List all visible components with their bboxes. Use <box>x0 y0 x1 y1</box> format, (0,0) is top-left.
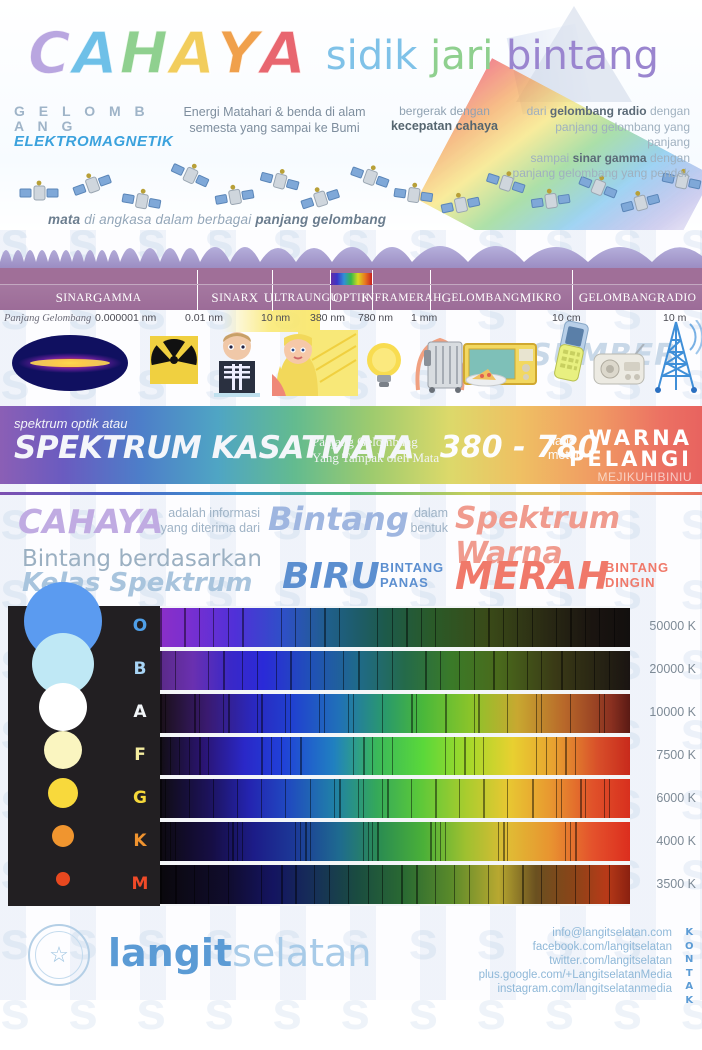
langitselatan-seal-logo: ☆ <box>28 924 90 986</box>
gelombang-label: G E L O M B A N G <box>14 104 172 133</box>
adalah-line1: adalah informasi <box>152 506 260 521</box>
rainbow-divider <box>0 492 702 495</box>
contact-line[interactable]: info@langitselatan.com <box>479 926 672 940</box>
kontak-letter: K <box>685 926 694 940</box>
statement-bintang-panas: BINTANG PANAS <box>380 560 444 590</box>
langitselatan-wordmark: langitselatan <box>108 932 371 974</box>
star-size-circle <box>44 731 82 769</box>
range-l4: panjang gelombang yang pendek <box>512 166 690 182</box>
satellite-icon <box>528 185 574 222</box>
temperature-label: 3500 K <box>656 877 696 891</box>
kontak-letter: K <box>685 994 694 1008</box>
electromagnetic-spectrum-bar: SINAR GAMMASINAR XULTRAUNGUOPTIKINFRAMER… <box>0 284 702 310</box>
kontak-letter: A <box>685 980 694 994</box>
spectrum-band-gelombang-mikro: GELOMBANG MIKRO <box>430 285 572 311</box>
infographic-page: ssssssssssssssssssssssssssssssssssssssss… <box>0 0 702 1000</box>
spectral-class-chart: OBAFGKM 50000 K20000 K10000 K7500 K6000 … <box>8 606 694 906</box>
dingin-line2: DINGIN <box>605 575 669 590</box>
panas-line1: BINTANG <box>380 560 444 575</box>
wavelength-label: 0.01 nm <box>185 312 223 324</box>
title-letter: A <box>170 24 217 82</box>
dalam-line2: bentuk <box>404 521 448 536</box>
satellite-icon <box>18 180 60 211</box>
header-col-electromagnetic: G E L O M B A N G ELEKTROMAGNETIK <box>0 104 172 182</box>
optical-rainbow-strip <box>330 273 372 285</box>
range-radio: gelombang radio <box>550 104 647 118</box>
star-size-circle <box>52 825 74 847</box>
logo-secondary: selatan <box>232 931 371 975</box>
range-l3a: sampai <box>531 151 573 165</box>
temperature-column: 50000 K20000 K10000 K7500 K6000 K4000 K3… <box>636 606 696 906</box>
header-columns: G E L O M B A N G ELEKTROMAGNETIK Energi… <box>0 104 702 182</box>
spectrum-band-gelombang-radio: GELOMBANG RADIO <box>572 285 702 311</box>
stellar-spectrum-row <box>160 777 630 820</box>
spectrum-band-sinar-gamma: SINAR GAMMA <box>0 285 197 311</box>
speed-line2: kecepatan cahaya <box>391 119 498 133</box>
caption-panjang: panjang gelombang <box>255 212 386 227</box>
spectrum-band-sinar-x: SINAR X <box>197 285 272 311</box>
spectral-class-label: F <box>120 745 160 765</box>
spectral-class-label: O <box>120 616 160 636</box>
subtitle-word: sidik <box>326 33 418 79</box>
temperature-label: 7500 K <box>656 748 696 762</box>
title-letter: H <box>119 24 170 82</box>
statement-row-1: CAHAYA adalah informasi yang diterima da… <box>0 500 702 544</box>
title-letter: A <box>73 24 120 82</box>
stellar-spectrum-row <box>160 735 630 778</box>
range-l3c: dengan <box>647 151 690 165</box>
statement-bintang-dingin: BINTANG DINGIN <box>605 560 669 590</box>
satellites-caption: mata di angkasa dalam berbagai panjang g… <box>48 212 386 227</box>
spectrum-rows <box>160 606 630 906</box>
page-title: C A H A Y A sidik jari bintang <box>28 24 659 82</box>
contact-line[interactable]: facebook.com/langitselatan <box>479 940 672 954</box>
statement-adalah: adalah informasi yang diterima dari <box>152 506 260 536</box>
caption-mata: mata <box>48 212 80 227</box>
spectral-class-label: G <box>120 788 160 808</box>
warna-pelangi-label: WARNA PELANGI <box>569 428 692 470</box>
spectral-class-label: B <box>120 659 160 679</box>
desc-line2: Yang Tampak oleh Mata <box>312 450 439 466</box>
wavelength-label: 10 nm <box>261 312 290 324</box>
stellar-spectrum-row <box>160 606 630 649</box>
range-l1c: dengan <box>647 104 690 118</box>
wavelength-label: 780 nm <box>358 312 393 324</box>
title-letter: A <box>261 24 308 82</box>
warna-line1: WARNA <box>569 428 692 449</box>
temperature-label: 50000 K <box>649 619 696 633</box>
panas-line2: PANAS <box>380 575 444 590</box>
wavelength-label: 380 nm <box>310 312 345 324</box>
temperature-label: 4000 K <box>656 834 696 848</box>
spectrum-tick <box>330 270 331 284</box>
heater-icon <box>412 332 468 394</box>
desc-line1: Panjang Gelombang <box>312 434 439 450</box>
range-l2: panjang gelombang yang panjang <box>512 120 690 151</box>
star-size-circle <box>48 778 78 808</box>
light-bulb-icon <box>362 338 406 390</box>
kontak-letter: N <box>685 953 694 967</box>
temperature-label: 10000 K <box>649 705 696 719</box>
satellite-icon <box>390 179 436 216</box>
statement-cahaya: CAHAYA <box>18 502 163 541</box>
wavelength-scale-label: Panjang Gelombang <box>4 313 91 324</box>
source-icon-row <box>0 330 702 402</box>
title-letter: Y <box>217 24 261 82</box>
kontak-label: KONTAK <box>685 926 694 1007</box>
wavelength-label: 0.000001 nm <box>95 312 156 324</box>
spectrum-band-ultraungu: ULTRAUNGU <box>272 285 330 311</box>
star-size-circle <box>39 683 87 731</box>
statement-bintang: Bintang <box>268 500 409 538</box>
gamma-sky-map-icon <box>10 332 130 394</box>
spectral-class-column: OBAFGKM <box>120 606 160 906</box>
spectrum-tick <box>572 270 573 284</box>
header-col-speed: bergerak dengan kecepatan cahaya <box>377 104 512 182</box>
mobile-phone-icon <box>552 320 590 386</box>
microwave-oven-icon <box>462 342 538 390</box>
range-l1a: dari <box>527 104 550 118</box>
star-size-circle <box>56 872 70 886</box>
spectral-class-label: A <box>120 702 160 722</box>
spectrum-tick <box>430 270 431 284</box>
title-cahaya: C A H A Y A <box>28 24 308 82</box>
stellar-spectrum-row <box>160 820 630 863</box>
spectral-class-label: K <box>120 831 160 851</box>
spectrum-description: Panjang Gelombang Yang Tampak oleh Mata <box>312 434 439 466</box>
stellar-spectrum-row <box>160 692 630 735</box>
spectrum-band-inframerah: INFRAMERAH <box>372 285 430 311</box>
visible-spectrum-panel: spektrum optik atau SPEKTRUM KASATMATA P… <box>0 406 702 484</box>
dalam-line1: dalam <box>404 506 448 521</box>
contact-line[interactable]: plus.google.com/+LangitselatanMedia <box>479 968 672 982</box>
radio-tower-icon <box>650 320 702 394</box>
caption-mid: di angkasa dalam berbagai <box>80 212 255 227</box>
spectrum-tick <box>272 270 273 284</box>
footer-section: ☆ langitselatan info@langitselatan.comfa… <box>0 908 702 1000</box>
contact-line[interactable]: twitter.com/langitselatan <box>479 954 672 968</box>
contact-line[interactable]: instagram.com/langitselatanmedia <box>479 982 672 996</box>
speed-line1: bergerak dengan <box>377 104 512 119</box>
radio-receiver-icon <box>592 344 650 386</box>
seal-inner: ☆ <box>35 931 83 979</box>
xray-child-icon <box>210 330 264 398</box>
range-gamma: sinar gamma <box>573 151 647 165</box>
wavelength-label: 1 mm <box>411 312 437 324</box>
title-letter: C <box>28 24 73 82</box>
spectrum-tick <box>372 270 373 284</box>
stellar-spectrum-row <box>160 649 630 692</box>
star-size-column <box>8 606 118 906</box>
kontak-letter: O <box>685 940 694 954</box>
contact-list: info@langitselatan.comfacebook.com/langi… <box>479 926 672 996</box>
statement-merah: MERAH <box>455 554 609 598</box>
statement-row-2: Bintang berdasarkan Kelas Spektrum BIRU … <box>0 546 702 598</box>
subtitle-word: jari <box>430 33 493 79</box>
statement-dalam-bentuk: dalam bentuk <box>404 506 448 536</box>
temperature-label: 6000 K <box>656 791 696 805</box>
elektromagnetik-label: ELEKTROMAGNETIK <box>14 135 172 150</box>
logo-primary: langit <box>108 931 232 975</box>
spectral-class-label: M <box>120 874 160 894</box>
header-col-energy: Energi Matahari & benda di alam semesta … <box>172 104 377 182</box>
spectrum-tick <box>197 270 198 284</box>
statement-biru: BIRU <box>282 556 380 597</box>
spectrum-eyebrow: spektrum optik atau <box>14 416 127 431</box>
radiation-hazard-icon <box>150 336 198 384</box>
stellar-spectrum-row <box>160 863 630 906</box>
header-col-range: dari gelombang radio dengan panjang gelo… <box>512 104 702 182</box>
subtitle-word: bintang <box>506 33 659 79</box>
temperature-label: 20000 K <box>649 662 696 676</box>
dingin-line1: BINTANG <box>605 560 669 575</box>
statement-section: CAHAYA adalah informasi yang diterima da… <box>0 492 702 600</box>
adalah-line2: yang diterima dari <box>152 521 260 536</box>
kontak-letter: T <box>685 967 694 981</box>
mnemonic-label: MEJIKUHIBINIU <box>597 470 692 484</box>
title-subtitle: sidik jari bintang <box>326 34 659 82</box>
wavelength-scale: Panjang Gelombang 0.000001 nm0.01 nm10 n… <box>0 312 702 330</box>
uv-sunbathing-icon <box>272 330 358 396</box>
warna-line2: PELANGI <box>569 449 692 470</box>
